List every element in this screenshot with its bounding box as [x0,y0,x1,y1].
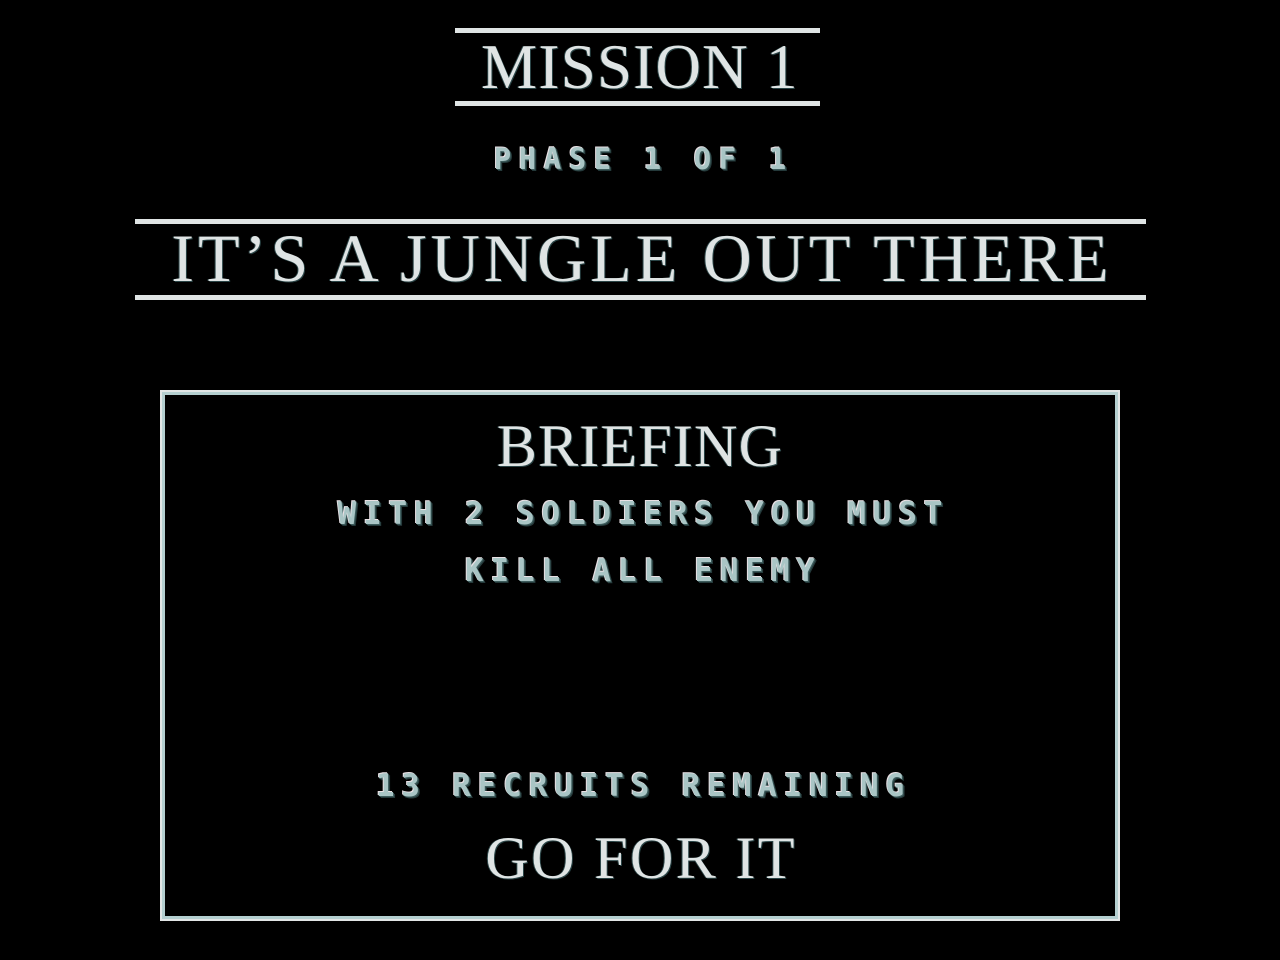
mission-title: MISSION 1 [0,31,1280,103]
game-screen: MISSION 1 PHASE 1 OF 1 IT’S A JUNGLE OUT… [0,0,1280,960]
mission-title-rule-bottom [455,101,820,106]
briefing-heading: BRIEFING [165,413,1115,479]
recruits-remaining-status: 13 RECRUITS REMAINING [165,767,1115,805]
mission-name-rule-bottom [135,295,1146,300]
go-for-it-prompt[interactable]: GO FOR IT [165,823,1115,893]
briefing-panel: BRIEFING WITH 2 SOLDIERS YOU MUST KILL A… [162,392,1118,919]
briefing-objective-line-2: KILL ALL ENEMY [165,552,1115,590]
mission-name: IT’S A JUNGLE OUT THERE [0,218,1280,298]
briefing-objective-line-1: WITH 2 SOLDIERS YOU MUST [165,495,1115,533]
phase-indicator: PHASE 1 OF 1 [0,142,1280,176]
